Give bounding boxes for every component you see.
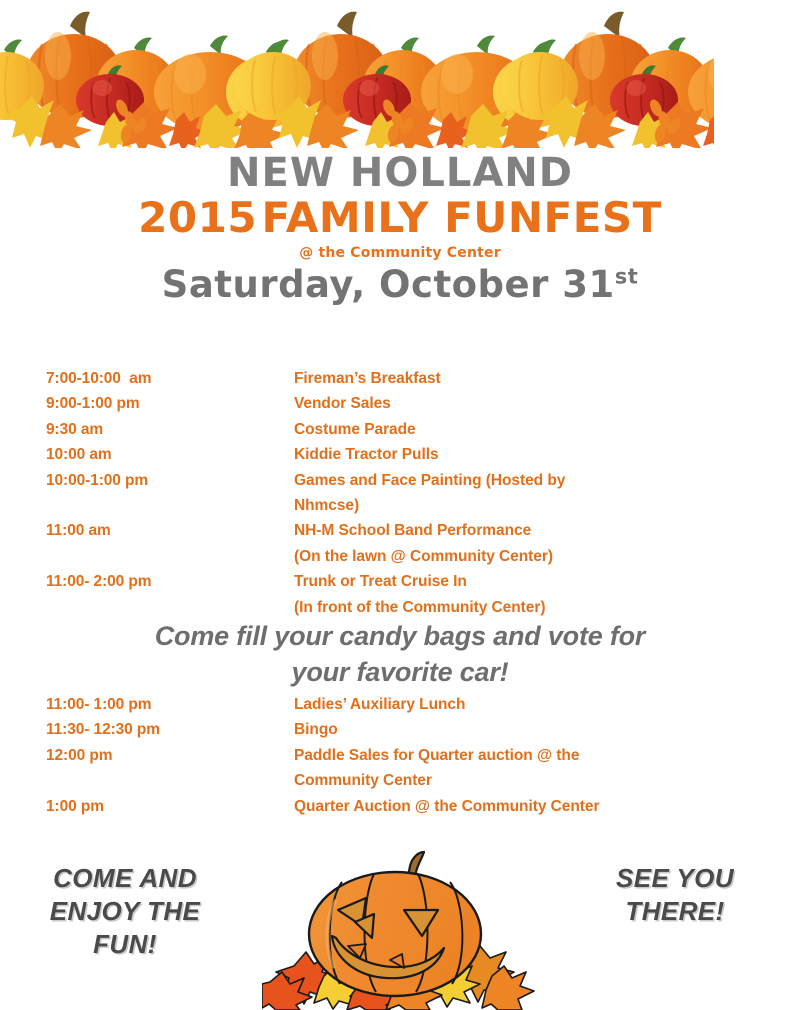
schedule-activity: NH-M School Band Performance (On the law…: [294, 518, 756, 569]
event-date-ordinal: st: [615, 264, 639, 288]
schedule-row: 1:00 pmQuarter Auction @ the Community C…: [46, 794, 756, 819]
schedule-row: 7:00-10:00 amFireman’s Breakfast: [46, 366, 756, 391]
schedule-morning-body: 7:00-10:00 amFireman’s Breakfast9:00-1:0…: [46, 366, 756, 620]
schedule-row: 12:00 pmPaddle Sales for Quarter auction…: [46, 743, 756, 794]
schedule-activity: Kiddie Tractor Pulls: [294, 442, 756, 467]
schedule-row: 11:00 amNH-M School Band Performance (On…: [46, 518, 756, 569]
schedule-time: 12:00 pm: [46, 743, 294, 794]
schedule-table-morning: 7:00-10:00 amFireman’s Breakfast9:00-1:0…: [46, 366, 756, 620]
schedule-time: 9:00-1:00 pm: [46, 391, 294, 416]
schedule-time: 11:00- 1:00 pm: [46, 692, 294, 717]
schedule-activity: Fireman’s Breakfast: [294, 366, 756, 391]
schedule-activity: Trunk or Treat Cruise In (In front of th…: [294, 569, 756, 620]
schedule-activity: Bingo: [294, 717, 756, 742]
schedule-row: 11:30- 12:30 pmBingo: [46, 717, 756, 742]
schedule-row: 10:00-1:00 pmGames and Face Painting (Ho…: [46, 468, 756, 519]
schedule-row: 11:00- 1:00 pmLadies’ Auxiliary Lunch: [46, 692, 756, 717]
flyer-heading: NEW HOLLAND 2015 FAMILY FUNFEST @ the Co…: [0, 152, 800, 306]
schedule-activity: Costume Parade: [294, 417, 756, 442]
schedule-time: 11:00- 2:00 pm: [46, 569, 294, 620]
event-name: FAMILY FUNFEST: [262, 193, 662, 242]
schedule-time: 11:00 am: [46, 518, 294, 569]
callout-line-2: your favorite car!: [0, 654, 800, 690]
jack-o-lantern-icon: [262, 848, 538, 1010]
schedule-time: 7:00-10:00 am: [46, 366, 294, 391]
schedule-time: 10:00 am: [46, 442, 294, 467]
pumpkin-border-banner: [0, 0, 800, 148]
schedule-row: 10:00 amKiddie Tractor Pulls: [46, 442, 756, 467]
schedule-activity: Vendor Sales: [294, 391, 756, 416]
schedule-time: 10:00-1:00 pm: [46, 468, 294, 519]
schedule-activity: Quarter Auction @ the Community Center: [294, 794, 756, 819]
schedule-afternoon-body: 11:00- 1:00 pmLadies’ Auxiliary Lunch11:…: [46, 692, 756, 819]
event-title-line: 2015 FAMILY FUNFEST: [0, 195, 800, 240]
schedule-time: 1:00 pm: [46, 794, 294, 819]
organization-title: NEW HOLLAND: [0, 152, 800, 195]
schedule-row: 9:30 amCostume Parade: [46, 417, 756, 442]
candy-bag-callout: Come fill your candy bags and vote for y…: [0, 618, 800, 690]
pumpkin-autumn-border-icon: [0, 0, 800, 148]
event-date: Saturday, October 31st: [0, 263, 800, 306]
schedule-time: 9:30 am: [46, 417, 294, 442]
schedule-table-afternoon: 11:00- 1:00 pmLadies’ Auxiliary Lunch11:…: [46, 692, 756, 819]
schedule-time: 11:30- 12:30 pm: [46, 717, 294, 742]
callout-line-1: Come fill your candy bags and vote for: [155, 621, 646, 651]
schedule-row: 11:00- 2:00 pmTrunk or Treat Cruise In (…: [46, 569, 756, 620]
schedule-activity: Ladies’ Auxiliary Lunch: [294, 692, 756, 717]
flyer-footer: COME AND ENJOY THE FUN!: [0, 848, 800, 1010]
event-date-text: Saturday, October 31: [162, 263, 615, 306]
footer-shout-left: COME AND ENJOY THE FUN!: [16, 862, 234, 961]
schedule-row: 9:00-1:00 pmVendor Sales: [46, 391, 756, 416]
venue-subtitle: @ the Community Center: [0, 245, 800, 261]
jack-o-lantern-illustration: [262, 848, 538, 1010]
footer-shout-right: SEE YOU THERE!: [566, 862, 784, 928]
schedule-activity: Games and Face Painting (Hosted by Nhmcs…: [294, 468, 756, 519]
schedule-activity: Paddle Sales for Quarter auction @ the C…: [294, 743, 756, 794]
event-year: 2015: [138, 193, 257, 242]
